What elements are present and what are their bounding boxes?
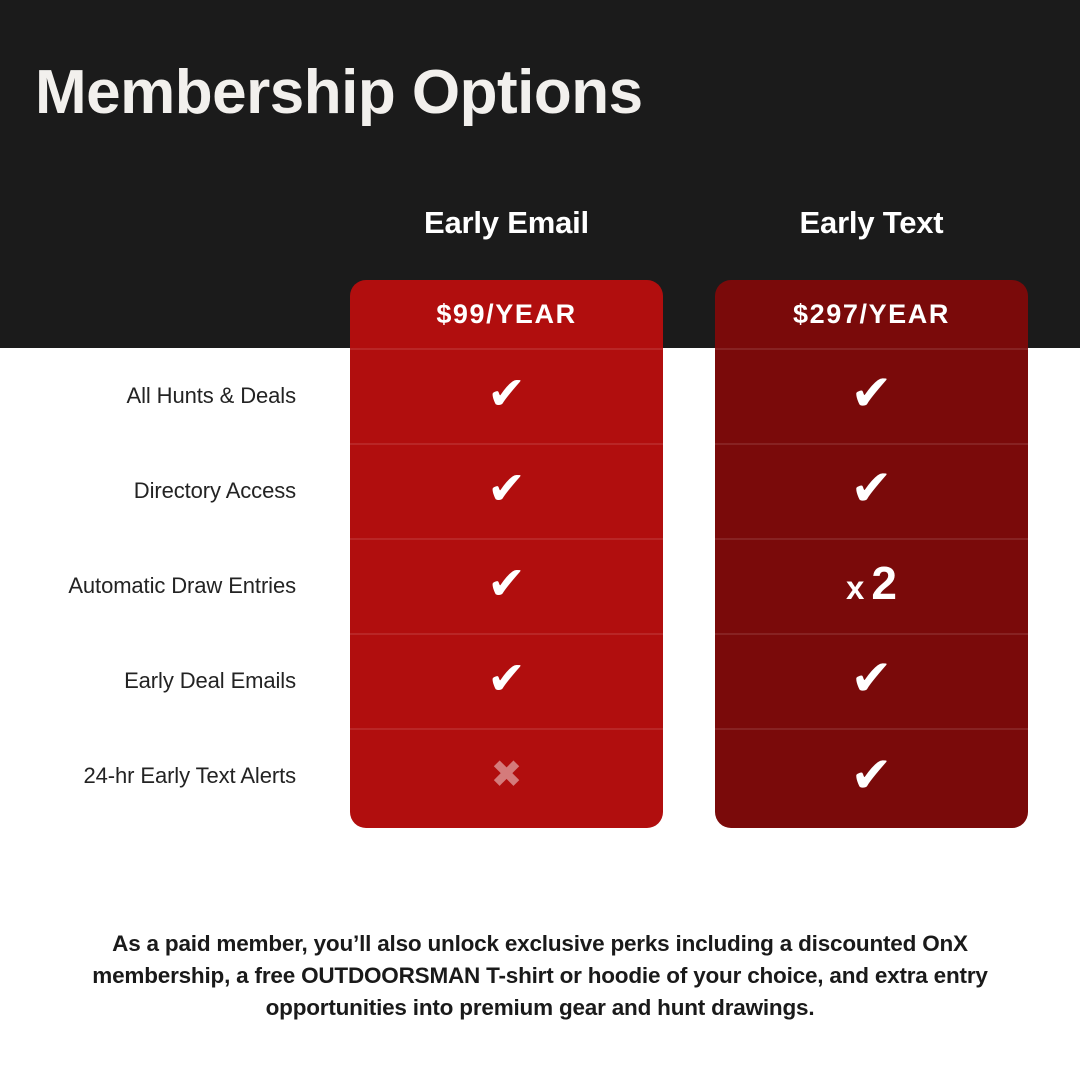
plan-header-early-email: Early Email — [350, 205, 663, 241]
feature-label: 24-hr Early Text Alerts — [0, 728, 296, 823]
plan-cell: ✔ — [715, 348, 1028, 443]
feature-label: Automatic Draw Entries — [0, 538, 296, 633]
plan-cell: ✔ — [715, 443, 1028, 538]
feature-label: All Hunts & Deals — [0, 348, 296, 443]
check-icon: ✔ — [851, 463, 893, 513]
plan-cell: ✔ — [350, 633, 663, 728]
membership-options-graphic: Membership Options Early Email Early Tex… — [0, 0, 1080, 1080]
check-icon: ✔ — [487, 655, 526, 701]
plan-price: $99/YEAR — [350, 280, 663, 348]
plan-cell: ✖ — [350, 728, 663, 828]
multiplier-badge: x 2 — [846, 560, 897, 606]
check-icon: ✔ — [851, 653, 893, 703]
plan-cell: ✔ — [350, 348, 663, 443]
multiplier-value: 2 — [871, 560, 897, 606]
multiplier-prefix: x — [846, 571, 864, 604]
plan-cell: ✔ — [715, 728, 1028, 828]
feature-label-column: All Hunts & Deals Directory Access Autom… — [0, 348, 296, 823]
plan-price: $297/YEAR — [715, 280, 1028, 348]
plan-cell: x 2 — [715, 538, 1028, 633]
page-title: Membership Options — [35, 62, 643, 124]
check-icon: ✔ — [851, 750, 893, 800]
check-icon: ✔ — [487, 560, 526, 606]
plan-cell: ✔ — [350, 443, 663, 538]
feature-label: Directory Access — [0, 443, 296, 538]
plan-card-early-email[interactable]: $99/YEAR ✔ ✔ ✔ ✔ ✖ — [350, 280, 663, 828]
feature-label: Early Deal Emails — [0, 633, 296, 728]
check-icon: ✔ — [487, 370, 526, 416]
check-icon: ✔ — [851, 368, 893, 418]
plan-cell: ✔ — [715, 633, 1028, 728]
footer-note: As a paid member, you’ll also unlock exc… — [60, 928, 1020, 1024]
cross-icon: ✖ — [491, 756, 523, 794]
plan-card-early-text[interactable]: $297/YEAR ✔ ✔ x 2 ✔ ✔ — [715, 280, 1028, 828]
plan-cell: ✔ — [350, 538, 663, 633]
plan-header-early-text: Early Text — [715, 205, 1028, 241]
check-icon: ✔ — [487, 465, 526, 511]
